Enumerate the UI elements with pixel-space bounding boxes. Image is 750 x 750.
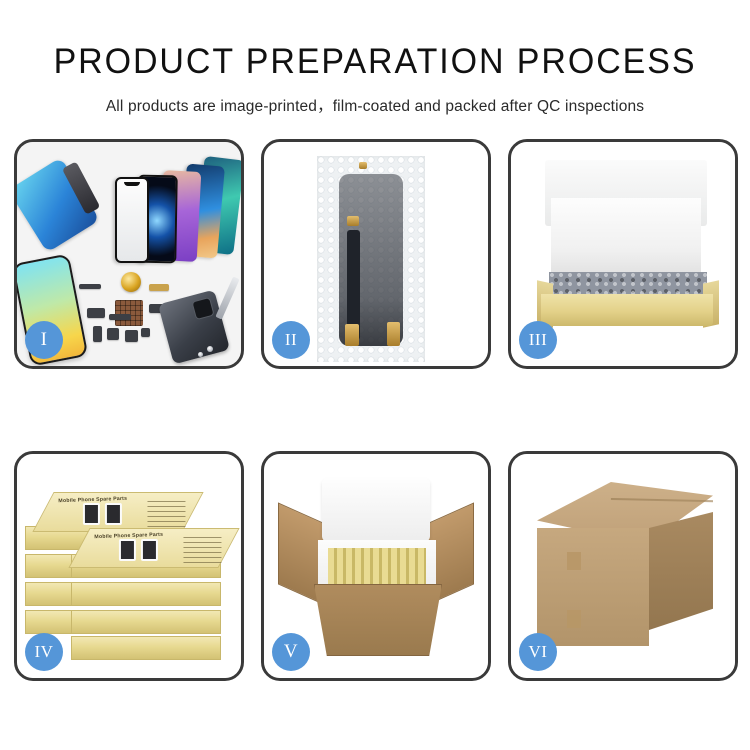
antenna-strip-icon [109, 314, 131, 320]
box-spec-lines [147, 499, 185, 527]
gold-contact-icon [359, 162, 367, 169]
spare-parts-group [79, 270, 229, 362]
page-subtitle: All products are image-printed，film-coat… [0, 94, 750, 116]
carton-tape-icon [567, 552, 581, 570]
process-step-grid: I II [14, 139, 738, 681]
step-badge-4: IV [25, 633, 63, 671]
box-window-image [141, 539, 158, 561]
process-step-card-4: Mobile Phone Spare Parts Mobile Phone Sp… [14, 451, 244, 681]
process-step-card-3: III [508, 139, 738, 369]
phone-screen-fan-group [91, 158, 241, 266]
gold-contact-icon [345, 324, 359, 346]
top-retail-box: Mobile Phone Spare Parts [32, 492, 203, 532]
foam-box-lid-icon [322, 478, 430, 542]
kraft-inner-box-icon [541, 294, 713, 326]
white-glass-screen-icon [115, 177, 149, 263]
step-badge-6: VI [519, 633, 557, 671]
bubble-wrap-bag-icon [317, 156, 425, 362]
carton-side-face-icon [649, 512, 713, 630]
page-title: PRODUCT PREPARATION PROCESS [11, 44, 739, 81]
tweezers-icon [215, 276, 239, 319]
box-window-image [119, 539, 136, 561]
header: PRODUCT PREPARATION PROCESS All products… [0, 0, 750, 116]
blue-adhesive-screen-icon [17, 157, 100, 253]
foam-sheet-icon [551, 198, 701, 274]
box-window-image [105, 503, 122, 525]
speaker-coil-icon [121, 272, 141, 292]
process-step-card-2: II [261, 139, 491, 369]
screw-icon [207, 346, 213, 352]
sim-tray-icon [93, 326, 102, 342]
chip-board-icon [115, 300, 143, 326]
part-bar-icon [79, 284, 101, 289]
part-block-icon [87, 308, 105, 318]
gold-contact-icon [347, 216, 359, 226]
carton-tape-icon [567, 610, 581, 628]
process-step-card-5: V [261, 451, 491, 681]
step-badge-1: I [25, 321, 63, 359]
camera-module-icon [107, 328, 119, 340]
gold-connector-icon [149, 284, 169, 291]
step-badge-5: V [272, 633, 310, 671]
carton-front-face-icon [537, 528, 649, 646]
screw-icon [198, 352, 203, 357]
second-retail-box: Mobile Phone Spare Parts [68, 528, 239, 568]
process-step-card-1: I [14, 139, 244, 369]
step-badge-2: II [272, 321, 310, 359]
vibration-motor-icon [125, 330, 138, 342]
stacked-box-edge [71, 582, 221, 606]
small-chip-icon [141, 328, 150, 337]
carton-body-icon [314, 584, 442, 656]
process-step-card-6: VI [508, 451, 738, 681]
phone-back-cover-icon [158, 290, 230, 365]
gold-contact-icon [387, 322, 400, 346]
yellow-boxes-inside-icon [328, 548, 426, 588]
product-preparation-infographic: PRODUCT PREPARATION PROCESS All products… [0, 0, 750, 750]
step-badge-3: III [519, 321, 557, 359]
stacked-box-edge [71, 636, 221, 660]
stacked-box-edge [71, 610, 221, 634]
box-window-image [83, 503, 100, 525]
box-spec-lines [183, 535, 221, 563]
